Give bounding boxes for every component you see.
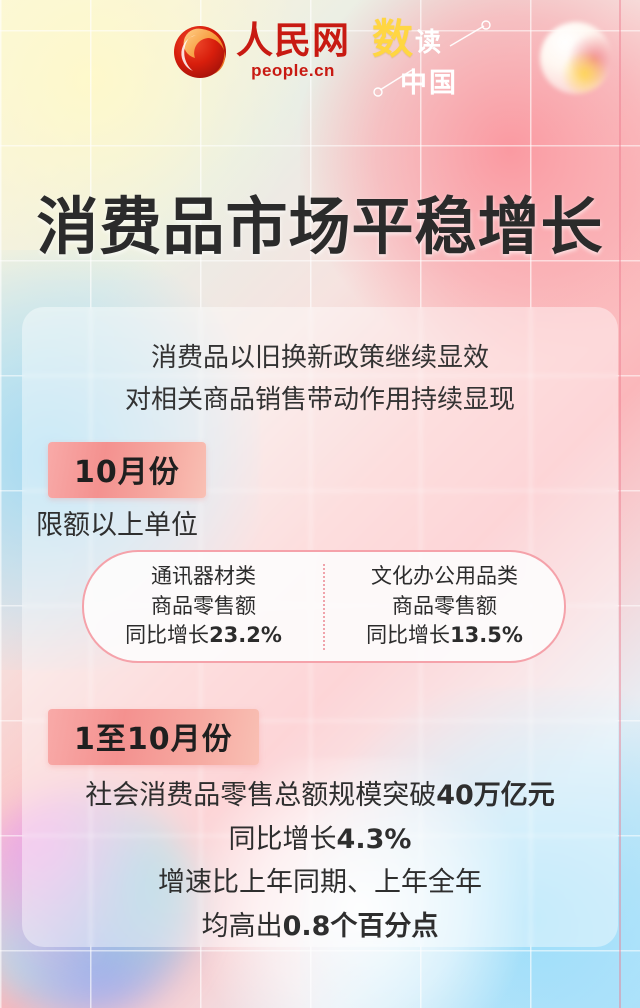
stat-category: 通讯器材类	[84, 562, 323, 592]
stat-change-label: 同比增长	[125, 623, 209, 647]
summary-line-1-value: 40万亿元	[436, 780, 555, 811]
stat-change-row: 同比增长13.5%	[325, 621, 564, 651]
lead-line-2: 对相关商品销售带动作用持续显现	[22, 379, 618, 421]
summary-line-2: 同比增长4.3%	[22, 818, 618, 862]
summary-line-3: 增速比上年同期、上年全年	[22, 861, 618, 905]
deco-circle-1	[482, 21, 490, 29]
stat-column-culture-office: 文化办公用品类 商品零售额 同比增长13.5%	[325, 562, 564, 651]
stat-metric: 商品零售额	[325, 592, 564, 622]
summary-line-4-value: 0.8个百分点	[283, 911, 439, 942]
stat-change-label: 同比增长	[366, 623, 450, 647]
people-cn-chinese-name: 人民网	[236, 22, 350, 59]
people-cn-swirl-icon	[172, 24, 228, 80]
summary-block: 社会消费品零售总额规模突破40万亿元 同比增长4.3% 增速比上年同期、上年全年…	[22, 774, 618, 949]
summary-line-1-prefix: 社会消费品零售总额规模突破	[85, 780, 436, 811]
lead-paragraph: 消费品以旧换新政策继续显效 对相关商品销售带动作用持续显现	[22, 337, 618, 421]
badge-jan-to-october: 1至10月份	[48, 709, 259, 765]
summary-line-4-prefix: 均高出	[202, 911, 283, 942]
stat-category: 文化办公用品类	[325, 562, 564, 592]
people-cn-logo: 人民网 people.cn	[172, 22, 350, 81]
stat-change-row: 同比增长23.2%	[84, 621, 323, 651]
shudu-zhongguo-logo: 数 读 中国	[372, 20, 500, 102]
people-cn-english-name: people.cn	[251, 61, 335, 81]
stat-change-value: 23.2%	[209, 623, 282, 647]
deco-circle-2	[374, 88, 382, 96]
stat-change-value: 13.5%	[450, 623, 523, 647]
infographic-poster: 人民网 people.cn 数 读 中国 消费品市场平稳增长 消费品以旧换新政策…	[0, 0, 640, 1008]
badge-october: 10月份	[48, 442, 206, 498]
summary-line-2-value: 4.3%	[337, 824, 412, 855]
lead-line-1: 消费品以旧换新政策继续显效	[22, 337, 618, 379]
stat-column-communications: 通讯器材类 商品零售额 同比增长23.2%	[84, 562, 323, 651]
page-title: 消费品市场平稳增长	[0, 176, 640, 266]
gradient-sphere-decoration	[540, 22, 612, 94]
poster-header: 人民网 people.cn 数 读 中国	[0, 0, 640, 118]
deco-line-1	[450, 26, 484, 46]
stat-card: 通讯器材类 商品零售额 同比增长23.2% 文化办公用品类 商品零售额 同比增长…	[82, 550, 566, 663]
stat-metric: 商品零售额	[84, 592, 323, 622]
deco-line-2	[380, 70, 412, 90]
subline-above-quota-units: 限额以上单位	[36, 503, 198, 542]
summary-line-2-prefix: 同比增长	[229, 824, 337, 855]
summary-line-1: 社会消费品零售总额规模突破40万亿元	[22, 774, 618, 818]
content-card: 消费品以旧换新政策继续显效 对相关商品销售带动作用持续显现 10月份 限额以上单…	[22, 307, 618, 947]
people-cn-wordmark: 人民网 people.cn	[236, 22, 350, 81]
summary-line-4: 均高出0.8个百分点	[22, 905, 618, 949]
